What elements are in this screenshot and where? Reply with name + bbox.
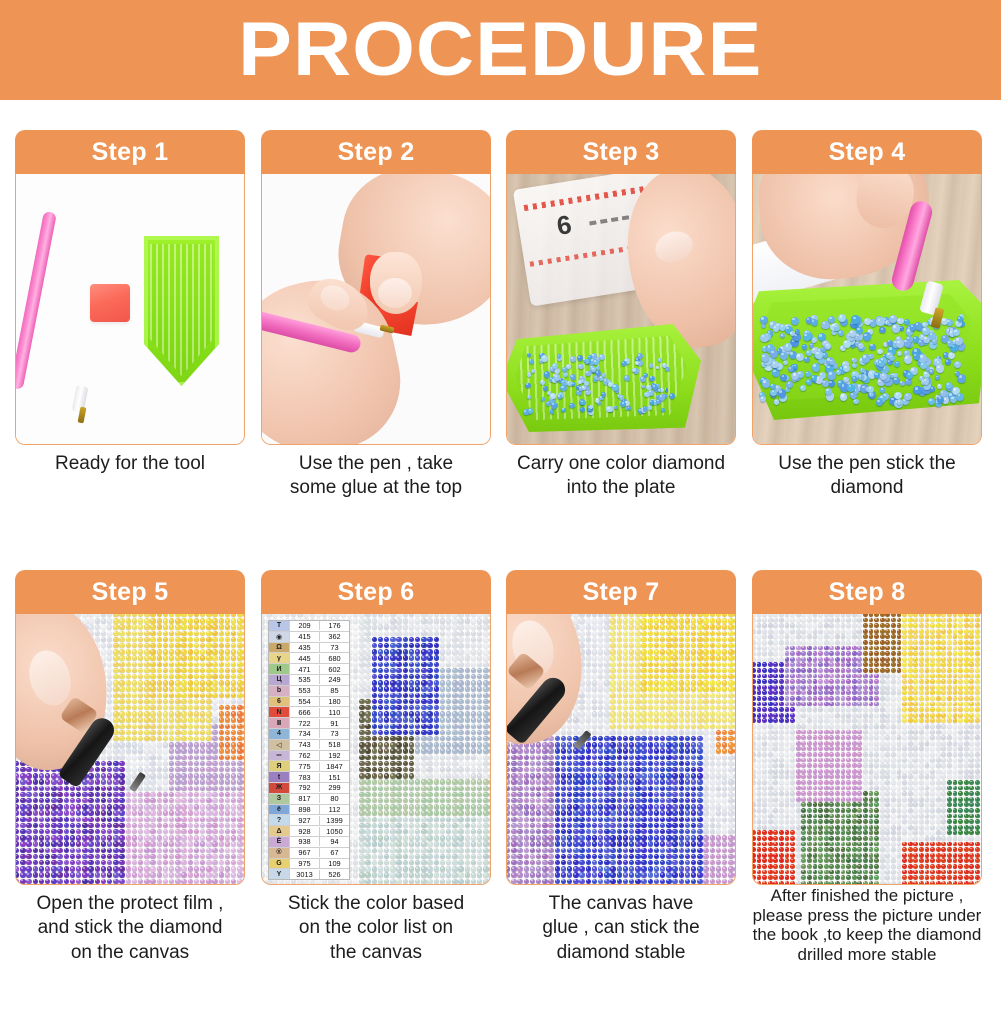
diamond-bead <box>95 767 100 772</box>
diamond-bead <box>477 614 482 617</box>
diamond-bead <box>669 393 675 399</box>
diamond-bead <box>458 823 463 828</box>
diamond-bead <box>378 829 383 834</box>
diamond-bead <box>465 804 470 809</box>
diamond-bead <box>573 711 578 716</box>
diamond-bead <box>219 724 224 729</box>
diamond-bead <box>427 792 432 797</box>
diamond-bead <box>88 810 93 815</box>
diamond-bead <box>569 403 574 408</box>
diamond-bead <box>648 637 653 642</box>
diamond-bead <box>390 755 395 760</box>
color-code: 783 <box>290 773 320 782</box>
diamond-bead <box>421 748 426 753</box>
diamond-bead <box>446 699 451 704</box>
diamond-bead <box>113 680 118 685</box>
diamond-bead <box>415 879 420 884</box>
diamond-bead <box>691 699 696 704</box>
diamond-bead <box>440 717 445 722</box>
diamond-bead <box>489 680 491 685</box>
diamond-bead <box>378 879 383 884</box>
diamond-bead <box>427 730 432 735</box>
diamond-bead <box>243 693 245 698</box>
diamond-bead <box>458 866 463 871</box>
diamond-bead <box>144 835 149 840</box>
diamond-bead <box>322 614 327 617</box>
diamond-bead <box>212 835 217 840</box>
diamond-bead <box>157 631 162 636</box>
diamond-bead <box>113 860 118 865</box>
diamond-bead <box>666 699 671 704</box>
diamond-bead <box>132 705 137 710</box>
diamond-bead <box>592 624 597 629</box>
diamond-bead <box>610 693 615 698</box>
diamond-bead <box>623 668 628 673</box>
diamond-bead <box>440 860 445 865</box>
diamond-bead <box>691 674 696 679</box>
diamond-bead <box>471 786 476 791</box>
diamond-bead <box>710 618 715 623</box>
diamond-bead <box>359 730 364 735</box>
diamond-bead <box>126 662 131 667</box>
diamond-bead <box>579 618 584 623</box>
diamond-bead <box>390 705 395 710</box>
diamond-bead <box>200 637 205 642</box>
diamond-bead <box>194 662 199 667</box>
diamond-bead <box>372 674 377 679</box>
diamond-bead <box>483 655 488 660</box>
diamond-bead <box>409 618 414 623</box>
diamond-bead <box>64 860 69 865</box>
diamond-bead <box>635 618 640 623</box>
diamond-bead <box>243 804 245 809</box>
diamond-bead <box>212 742 217 747</box>
diamond-bead <box>144 767 149 772</box>
diamond-bead <box>471 686 476 691</box>
diamond-bead <box>384 742 389 747</box>
diamond-bead <box>372 618 377 623</box>
diamond-bead <box>225 724 230 729</box>
diamond-bead <box>132 755 137 760</box>
diamond-bead <box>421 841 426 846</box>
diamond-bead <box>33 835 38 840</box>
diamond-bead <box>119 631 124 636</box>
diamond-bead <box>421 786 426 791</box>
diamond-bead <box>623 643 628 648</box>
diamond-bead <box>409 724 414 729</box>
diamond-bead <box>893 377 900 384</box>
diamond-bead <box>144 730 149 735</box>
diamond-bead <box>471 835 476 840</box>
diamond-bead <box>353 798 358 803</box>
diamond-bead <box>483 668 488 673</box>
diamond-bead <box>132 854 137 859</box>
diamond-bead <box>396 748 401 753</box>
diamond-bead <box>728 662 733 667</box>
diamond-bead <box>477 854 482 859</box>
diamond-bead <box>685 662 690 667</box>
diamond-bead <box>458 631 463 636</box>
color-list-row: Ω43573 <box>269 643 349 654</box>
diamond-bead <box>685 649 690 654</box>
diamond-bead <box>390 631 395 636</box>
diamond-bead <box>640 376 646 382</box>
diamond-bead <box>119 655 124 660</box>
diamond-bead <box>644 373 648 377</box>
diamond-bead <box>206 835 211 840</box>
diamond-bead <box>623 711 628 716</box>
diamond-bead <box>194 742 199 747</box>
diamond-bead <box>219 699 224 704</box>
color-symbol-swatch: ◁ <box>269 740 290 750</box>
diamond-bead <box>427 693 432 698</box>
diamond-bead <box>697 680 702 685</box>
diamond-bead <box>778 389 787 398</box>
diamond-bead <box>45 823 50 828</box>
diamond-bead <box>471 614 476 617</box>
diamond-bead <box>20 773 25 778</box>
diamond-bead <box>403 624 408 629</box>
diamond-bead <box>483 786 488 791</box>
diamond-bead <box>132 686 137 691</box>
diamond-bead <box>889 355 895 361</box>
diamond-bead <box>458 810 463 815</box>
diamond-bead <box>15 779 19 784</box>
diamond-bead <box>660 649 665 654</box>
diamond-bead <box>579 686 584 691</box>
diamond-bead <box>237 860 242 865</box>
diamond-bead <box>150 823 155 828</box>
diamond-bead <box>604 637 609 642</box>
diamond-bead <box>396 767 401 772</box>
diamond-bead <box>440 730 445 735</box>
diamond-bead <box>446 711 451 716</box>
diamond-bead <box>157 614 162 617</box>
diamond-bead <box>780 333 785 338</box>
diamond-bead <box>359 835 364 840</box>
diamond-bead <box>113 637 118 642</box>
diamond-bead <box>592 705 597 710</box>
color-list-row: 473473 <box>269 729 349 740</box>
diamond-bead <box>316 614 321 617</box>
diamond-bead <box>231 717 236 722</box>
diamond-bead <box>219 773 224 778</box>
diamond-bead <box>403 668 408 673</box>
diamond-bead <box>353 773 358 778</box>
step-5-header-label: Step 5 <box>92 578 169 607</box>
diamond-bead <box>51 798 56 803</box>
diamond-bead <box>660 711 665 716</box>
diamond-bead <box>169 631 174 636</box>
diamond-bead <box>107 798 112 803</box>
color-list-row: Ⅱ72291 <box>269 718 349 729</box>
diamond-bead <box>641 662 646 667</box>
diamond-bead <box>107 792 112 797</box>
diamond-bead <box>403 662 408 667</box>
diamond-bead <box>635 699 640 704</box>
diamond-bead <box>384 872 389 877</box>
diamond-bead <box>672 674 677 679</box>
diamond-bead <box>57 804 62 809</box>
diamond-bead <box>945 359 951 365</box>
diamond-bead <box>237 631 242 636</box>
diamond-bead <box>64 823 69 828</box>
diamond-bead <box>623 649 628 654</box>
diamond-bead <box>261 748 265 753</box>
diamond-bead <box>452 823 457 828</box>
diamond-bead <box>477 711 482 716</box>
diamond-bead <box>219 662 224 667</box>
diamond-bead <box>243 879 245 884</box>
diamond-bead <box>181 614 186 617</box>
diamond-bead <box>877 349 882 354</box>
diamond-bead <box>563 372 568 377</box>
diamond-bead <box>76 848 81 853</box>
diamond-bead <box>434 680 439 685</box>
diamond-bead <box>440 848 445 853</box>
diamond-bead <box>722 649 727 654</box>
diamond-bead <box>427 872 432 877</box>
diamond-bead <box>421 798 426 803</box>
diamond-bead <box>76 810 81 815</box>
diamond-bead <box>953 329 960 336</box>
diamond-bead <box>194 643 199 648</box>
diamond-bead <box>188 668 193 673</box>
diamond-bead <box>169 686 174 691</box>
diamond-bead <box>359 724 364 729</box>
diamond-bead <box>261 614 265 617</box>
diamond-bead <box>291 614 296 617</box>
diamond-bead <box>710 643 715 648</box>
diamond-bead <box>225 748 230 753</box>
diamond-bead <box>188 810 193 815</box>
diamond-bead <box>101 631 106 636</box>
diamond-bead <box>427 705 432 710</box>
diamond-bead <box>39 823 44 828</box>
color-code: 471 <box>290 665 320 674</box>
diamond-bead <box>593 359 599 365</box>
diamond-bead <box>679 624 684 629</box>
diamond-bead <box>200 804 205 809</box>
diamond-bead <box>378 817 383 822</box>
diamond-bead <box>76 879 81 884</box>
diamond-bead <box>384 866 389 871</box>
diamond-bead <box>409 717 414 722</box>
diamond-bead <box>483 872 488 877</box>
diamond-bead <box>101 810 106 815</box>
diamond-bead <box>359 879 364 884</box>
glue-square <box>90 284 130 322</box>
diamond-bead <box>39 829 44 834</box>
diamond-bead <box>617 631 622 636</box>
diamond-bead <box>878 360 885 367</box>
diamond-bead <box>390 792 395 797</box>
diamond-bead <box>722 655 727 660</box>
diamond-bead <box>231 879 236 884</box>
diamond-bead <box>734 717 736 722</box>
diamond-bead <box>45 779 50 784</box>
diamond-bead <box>163 817 168 822</box>
diamond-bead <box>206 614 211 617</box>
diamond-bead <box>685 674 690 679</box>
diamond-bead <box>471 872 476 877</box>
diamond-bead <box>144 618 149 623</box>
diamond-bead <box>206 699 211 704</box>
diamond-bead <box>225 618 230 623</box>
diamond-bead <box>489 655 491 660</box>
diamond-bead <box>804 357 810 363</box>
diamond-bead <box>163 742 168 747</box>
diamond-bead <box>477 724 482 729</box>
diamond-bead <box>169 637 174 642</box>
diamond-bead <box>181 624 186 629</box>
diamond-bead <box>403 848 408 853</box>
diamond-bead <box>672 662 677 667</box>
diamond-bead <box>157 798 162 803</box>
diamond-bead <box>144 680 149 685</box>
diamond-bead <box>471 637 476 642</box>
diamond-bead <box>206 736 211 741</box>
diamond-bead <box>710 705 715 710</box>
diamond-bead <box>200 823 205 828</box>
diamond-bead <box>132 767 137 772</box>
diamond-bead <box>679 614 684 617</box>
diamond-bead <box>458 680 463 685</box>
diamond-bead <box>144 674 149 679</box>
diamond-bead <box>415 662 420 667</box>
diamond-bead <box>703 618 708 623</box>
diamond-bead <box>434 779 439 784</box>
diamond-bead <box>200 848 205 853</box>
diamond-bead <box>132 761 137 766</box>
diamond-bead <box>477 767 482 772</box>
color-code: 209 <box>290 621 320 630</box>
diamond-bead <box>126 614 131 617</box>
diamond-bead <box>654 724 659 729</box>
diamond-bead <box>617 643 622 648</box>
diamond-bead <box>477 835 482 840</box>
diamond-bead <box>427 779 432 784</box>
diamond-bead <box>39 804 44 809</box>
diamond-bead <box>415 792 420 797</box>
diamond-bead <box>33 841 38 846</box>
diamond-bead <box>434 668 439 673</box>
diamond-bead <box>477 748 482 753</box>
diamond-bead <box>175 724 180 729</box>
diamond-bead <box>654 686 659 691</box>
diamond-bead <box>648 693 653 698</box>
diamond-bead <box>212 810 217 815</box>
diamond-bead <box>421 872 426 877</box>
diamond-bead <box>225 674 230 679</box>
diamond-bead <box>212 779 217 784</box>
diamond-bead <box>231 848 236 853</box>
diamond-bead <box>188 693 193 698</box>
diamond-bead <box>107 854 112 859</box>
diamond-bead <box>194 848 199 853</box>
diamond-bead <box>200 755 205 760</box>
diamond-bead <box>421 643 426 648</box>
diamond-bead <box>200 866 205 871</box>
diamond-bead <box>163 823 168 828</box>
diamond-bead <box>57 786 62 791</box>
diamond-bead <box>188 761 193 766</box>
diamond-bead <box>194 748 199 753</box>
diamond-bead <box>421 624 426 629</box>
diamond-bead <box>45 792 50 797</box>
diamond-bead <box>119 872 124 877</box>
diamond-bead <box>659 394 665 400</box>
diamond-bead <box>421 693 426 698</box>
diamond-bead <box>610 717 615 722</box>
diamond-bead <box>88 829 93 834</box>
diamond-bead <box>716 649 721 654</box>
diamond-bead <box>396 643 401 648</box>
diamond-bead <box>384 631 389 636</box>
diamond-bead <box>452 748 457 753</box>
diamond-bead <box>163 631 168 636</box>
diamond-bead <box>471 643 476 648</box>
diamond-bead <box>150 686 155 691</box>
diamond-bead <box>860 368 865 373</box>
diamond-bead <box>440 614 445 617</box>
diamond-bead <box>452 618 457 623</box>
diamond-bead <box>126 655 131 660</box>
green-tray-rim <box>144 236 219 386</box>
diamond-bead <box>169 755 174 760</box>
diamond-bead <box>434 860 439 865</box>
diamond-bead <box>372 866 377 871</box>
diamond-bead <box>828 380 836 388</box>
diamond-bead <box>403 699 408 704</box>
diamond-bead <box>489 761 491 766</box>
diamond-bead <box>101 755 106 760</box>
diamond-bead <box>648 686 653 691</box>
diamond-bead <box>697 686 702 691</box>
diamond-bead <box>703 686 708 691</box>
diamond-bead <box>150 637 155 642</box>
diamond-bead <box>359 798 364 803</box>
diamond-bead <box>378 674 383 679</box>
diamond-bead <box>212 643 217 648</box>
diamond-bead <box>88 823 93 828</box>
diamond-bead <box>113 761 118 766</box>
diamond-bead <box>88 860 93 865</box>
diamond-bead <box>604 631 609 636</box>
diamond-bead <box>212 624 217 629</box>
diamond-bead <box>541 397 545 401</box>
diamond-bead <box>237 686 242 691</box>
diamond-bead <box>580 407 585 412</box>
diamond-bead <box>598 699 603 704</box>
diamond-bead <box>359 649 364 654</box>
diamond-bead <box>378 724 383 729</box>
diamond-bead <box>527 372 531 376</box>
diamond-bead <box>175 879 180 884</box>
diamond-bead <box>64 841 69 846</box>
diamond-bead <box>76 860 81 865</box>
diamond-bead <box>26 848 31 853</box>
diamond-bead <box>261 854 265 859</box>
diamond-bead <box>654 643 659 648</box>
page-banner: PROCEDURE <box>0 0 1001 100</box>
diamond-bead <box>113 810 118 815</box>
diamond-bead <box>685 693 690 698</box>
diamond-bead <box>225 699 230 704</box>
diamond-bead <box>175 798 180 803</box>
diamond-bead <box>458 624 463 629</box>
diamond-bead <box>372 717 377 722</box>
